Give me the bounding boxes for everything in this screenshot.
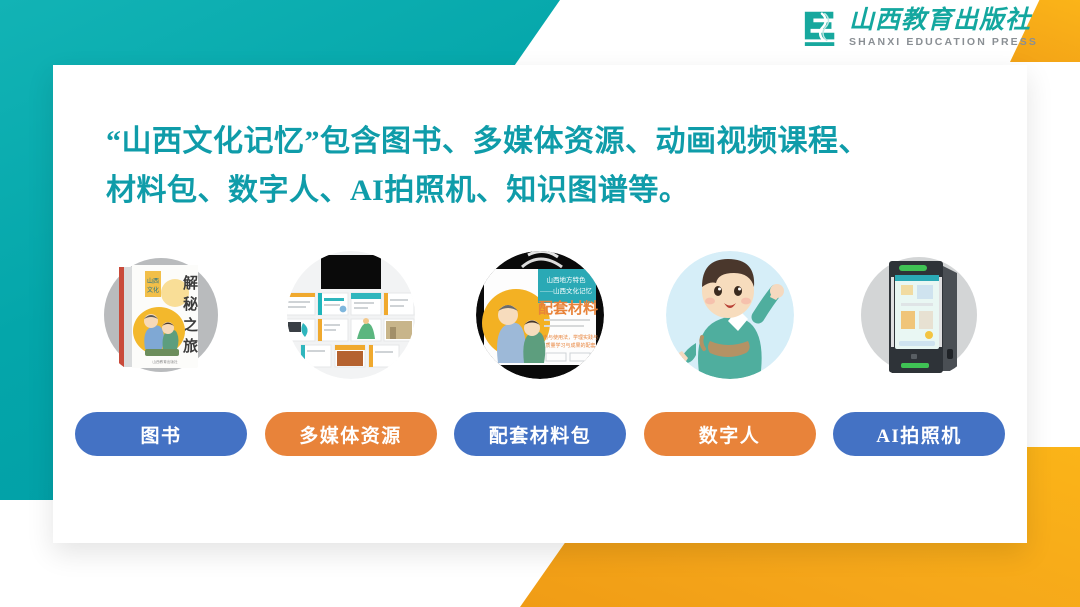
svg-text:——山西文化记忆: ——山西文化记忆 (539, 286, 593, 295)
page-title-line-1: “山西文化记忆”包含图书、多媒体资源、动画视频课程、 (106, 118, 986, 167)
list-item[interactable]: 山西地方特色 ——山西文化记忆 配套材料 指南与使用法，学理实践与 高质量学习与… (454, 251, 626, 456)
material-kit-bag-thumbnail: 山西地方特色 ——山西文化记忆 配套材料 指南与使用法，学理实践与 高质量学习与… (476, 251, 604, 379)
svg-text:旅: 旅 (183, 337, 198, 355)
content-card: “山西文化记忆”包含图书、多媒体资源、动画视频课程、 材料包、数字人、AI拍照机… (53, 65, 1027, 543)
ai-photo-kiosk-thumbnail (855, 251, 983, 379)
svg-text:高质量学习与成果的配套: 高质量学习与成果的配套 (540, 342, 595, 349)
svg-text:山西: 山西 (147, 277, 159, 285)
page-title-line-2: 材料包、数字人、AI拍照机、知识图谱等。 (106, 167, 986, 216)
brand-name-cn: 山西教育出版社 (849, 8, 1038, 33)
list-item[interactable]: 山西 文化 解 秘 之 旅 (75, 251, 247, 456)
list-item[interactable]: 数字人 (644, 251, 816, 456)
brand-name-en: SHANXI EDUCATION PRESS (849, 37, 1038, 48)
resource-item-list: 山西 文化 解 秘 之 旅 (75, 251, 1005, 456)
book-cover-thumbnail: 山西 文化 解 秘 之 旅 (97, 251, 225, 379)
resource-button-material-kit[interactable]: 配套材料包 (454, 412, 626, 456)
svg-text:秘: 秘 (183, 295, 198, 313)
list-item[interactable]: AI拍照机 (833, 251, 1005, 456)
svg-text:之: 之 (183, 316, 198, 334)
page-title: “山西文化记忆”包含图书、多媒体资源、动画视频课程、 材料包、数字人、AI拍照机… (106, 118, 986, 215)
svg-text:山西教育出版社: 山西教育出版社 (152, 359, 178, 364)
resource-button-digital-human[interactable]: 数字人 (644, 412, 816, 456)
slide-grid-thumbnail (287, 251, 415, 379)
list-item[interactable]: 多媒体资源 (265, 251, 437, 456)
digital-human-avatar-thumbnail (666, 251, 794, 379)
resource-button-multimedia[interactable]: 多媒体资源 (265, 412, 437, 456)
svg-text:山西地方特色: 山西地方特色 (547, 275, 587, 284)
brand-logo: 山西教育出版社 SHANXI EDUCATION PRESS (802, 8, 1038, 48)
svg-text:解: 解 (183, 274, 198, 292)
svg-text:指南与使用法，学理实践与: 指南与使用法，学理实践与 (538, 334, 598, 341)
resource-button-books[interactable]: 图书 (75, 412, 247, 456)
resource-button-ai-photo-booth[interactable]: AI拍照机 (833, 412, 1005, 456)
svg-text:文化: 文化 (147, 286, 159, 294)
svg-text:配套材料: 配套材料 (538, 299, 598, 317)
shanxi-press-logo-icon (802, 8, 840, 48)
brand-text-block: 山西教育出版社 SHANXI EDUCATION PRESS (849, 8, 1038, 48)
